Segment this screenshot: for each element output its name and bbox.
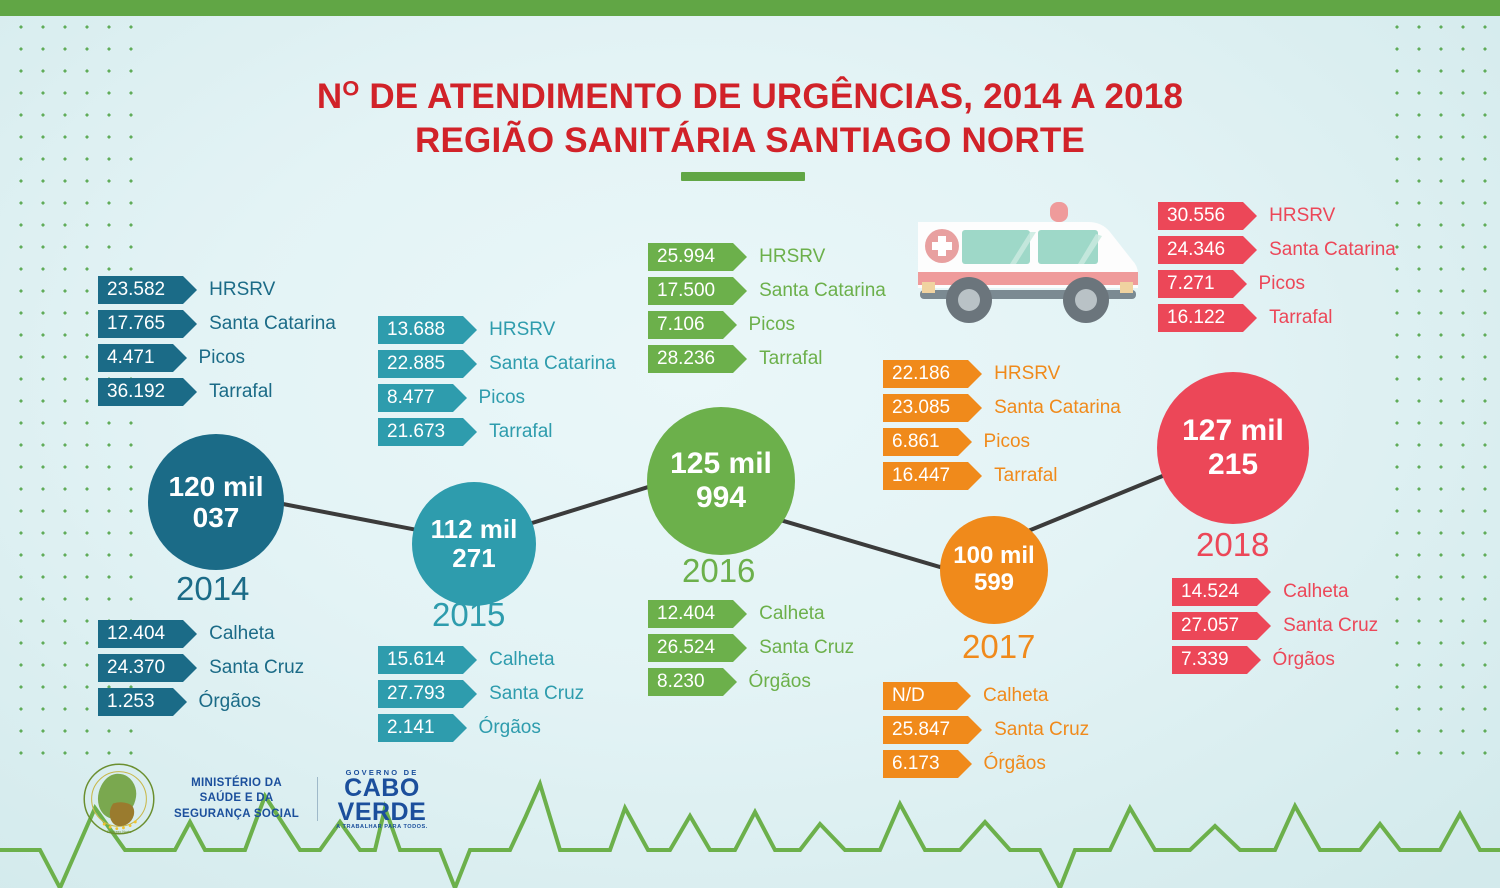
facility-label: HRSRV [489,319,555,341]
breakdown-row[interactable]: 6.173Órgãos [883,750,1089,778]
value-badge: 36.192 [98,378,183,406]
total-bubble-2016[interactable]: 125 mil994 [647,407,795,555]
breakdown-bottom-2014: 12.404Calheta 24.370Santa Cruz 1.253Órgã… [98,620,304,722]
value-badge: 7.106 [648,311,723,339]
ministry-line-1: MINISTÉRIO DA [174,776,299,792]
infographic-canvas: No DE ATENDIMENTO DE URGÊNCIAS, 2014 A 2… [0,0,1500,888]
breakdown-row[interactable]: 7.271Picos [1158,270,1396,298]
facility-label: Tarrafal [489,421,552,443]
ministry-logo-text: MINISTÉRIO DA SAÚDE E DA SEGURANÇA SOCIA… [174,776,299,823]
total-line-2: 994 [670,481,772,515]
facility-label: Picos [199,347,245,369]
breakdown-row[interactable]: 8.230Órgãos [648,668,854,696]
governo-cabo-verde-logo: GOVERNO DE CABO VERDE A TRABALHAR PARA T… [336,768,428,831]
value-badge: 27.057 [1172,612,1257,640]
title-rest: DE ATENDIMENTO DE URGÊNCIAS, 2014 A 2018 [359,77,1183,116]
value-badge: 4.471 [98,344,173,372]
value-badge: 13.688 [378,316,463,344]
breakdown-row[interactable]: 2.141Órgãos [378,714,584,742]
breakdown-row[interactable]: 15.614Calheta [378,646,584,674]
facility-label: Santa Cruz [759,637,854,659]
value-badge: 25.994 [648,243,733,271]
value-badge: 22.885 [378,350,463,378]
value-badge: 7.271 [1158,270,1233,298]
value-badge: 16.122 [1158,304,1243,332]
ministry-line-2: SAÚDE E DA [174,791,299,807]
value-badge: 14.524 [1172,578,1257,606]
facility-label: Santa Catarina [209,313,336,335]
breakdown-row[interactable]: 25.994HRSRV [648,243,886,271]
breakdown-row[interactable]: 17.765Santa Catarina [98,310,336,338]
facility-label: Calheta [759,603,825,625]
facility-label: Santa Cruz [994,719,1089,741]
breakdown-row[interactable]: 36.192Tarrafal [98,378,336,406]
value-badge: 25.847 [883,716,968,744]
facility-label: Santa Cruz [209,657,304,679]
ambulance-illustration [890,196,1150,336]
breakdown-row[interactable]: 23.085Santa Catarina [883,394,1121,422]
breakdown-row[interactable]: 22.885Santa Catarina [378,350,616,378]
value-badge: 26.524 [648,634,733,662]
total-line-1: 112 mil [431,515,518,544]
breakdown-top-2018: 30.556HRSRV 24.346Santa Catarina 7.271Pi… [1158,202,1396,338]
breakdown-row[interactable]: 27.057Santa Cruz [1172,612,1378,640]
breakdown-row[interactable]: 24.346Santa Catarina [1158,236,1396,264]
facility-label: Picos [1259,273,1305,295]
value-badge: 12.404 [98,620,183,648]
value-badge: 24.346 [1158,236,1243,264]
facility-label: HRSRV [759,246,825,268]
value-badge: 12.404 [648,600,733,628]
year-label-2016: 2016 [682,552,755,590]
facility-label: Santa Catarina [994,397,1121,419]
breakdown-row[interactable]: 13.688HRSRV [378,316,616,344]
footer-divider [317,777,318,821]
breakdown-row[interactable]: 4.471Picos [98,344,336,372]
value-badge: 24.370 [98,654,183,682]
total-line-2: 215 [1182,448,1284,482]
title-ordinal: o [342,75,359,100]
title-underline-rule [681,172,805,181]
breakdown-bottom-2015: 15.614Calheta 27.793Santa Cruz 2.141Órgã… [378,646,584,748]
ministry-line-3: SEGURANÇA SOCIAL [174,807,299,823]
total-line-1: 127 mil [1182,414,1284,448]
breakdown-top-2016: 25.994HRSRV 17.500Santa Catarina 7.106Pi… [648,243,886,379]
breakdown-row[interactable]: N/DCalheta [883,682,1089,710]
facility-label: Picos [984,431,1030,453]
facility-label: Órgãos [749,671,811,693]
value-badge: 7.339 [1172,646,1247,674]
breakdown-row[interactable]: 6.861Picos [883,428,1121,456]
title-line-2: REGIÃO SANITÁRIA SANTIAGO NORTE [0,119,1500,164]
value-badge: 6.861 [883,428,958,456]
title-line-1: No DE ATENDIMENTO DE URGÊNCIAS, 2014 A 2… [317,77,1183,116]
breakdown-row[interactable]: 30.556HRSRV [1158,202,1396,230]
breakdown-top-2014: 23.582HRSRV 17.765Santa Catarina 4.471Pi… [98,276,336,412]
svg-text:Santiago Norte: Santiago Norte [107,830,132,834]
facility-label: Tarrafal [994,465,1057,487]
breakdown-row[interactable]: 16.447Tarrafal [883,462,1121,490]
facility-label: Órgãos [199,691,261,713]
total-line-1: 100 mil [953,543,1034,570]
facility-label: HRSRV [994,363,1060,385]
breakdown-row[interactable]: 8.477Picos [378,384,616,412]
breakdown-row[interactable]: 21.673Tarrafal [378,418,616,446]
value-badge: 27.793 [378,680,463,708]
value-badge: 23.582 [98,276,183,304]
title-n: N [317,77,342,116]
top-accent-bar [0,0,1500,16]
breakdown-row[interactable]: 1.253Órgãos [98,688,304,716]
facility-label: HRSRV [1269,205,1335,227]
facility-label: HRSRV [209,279,275,301]
total-line-2: 599 [953,570,1034,597]
facility-label: Picos [749,314,795,336]
breakdown-row[interactable]: 24.370Santa Cruz [98,654,304,682]
facility-label: Picos [479,387,525,409]
facility-label: Calheta [209,623,275,645]
facility-label: Órgãos [1273,649,1335,671]
gov-main-line-2: VERDE [336,801,428,825]
gov-main-line-1: CABO [336,777,428,801]
year-label-2018: 2018 [1196,526,1269,564]
year-label-2015: 2015 [432,596,505,634]
breakdown-row[interactable]: 26.524Santa Cruz [648,634,854,662]
facility-label: Calheta [1283,581,1349,603]
breakdown-row[interactable]: 14.524Calheta [1172,578,1378,606]
breakdown-bottom-2017: N/DCalheta 25.847Santa Cruz 6.173Órgãos [883,682,1089,784]
facility-label: Tarrafal [1269,307,1332,329]
facility-label: Santa Catarina [1269,239,1396,261]
value-badge: 8.477 [378,384,453,412]
total-bubble-2014[interactable]: 120 mil037 [148,434,284,570]
breakdown-row[interactable]: 25.847Santa Cruz [883,716,1089,744]
value-badge: 30.556 [1158,202,1243,230]
facility-label: Santa Cruz [489,683,584,705]
facility-label: Santa Catarina [489,353,616,375]
value-badge: 17.500 [648,277,733,305]
facility-label: Santa Cruz [1283,615,1378,637]
page-title: No DE ATENDIMENTO DE URGÊNCIAS, 2014 A 2… [0,74,1500,164]
breakdown-row[interactable]: 7.106Picos [648,311,886,339]
value-badge: 2.141 [378,714,453,742]
breakdown-row[interactable]: 12.404Calheta [98,620,304,648]
total-bubble-2018[interactable]: 127 mil215 [1157,372,1309,524]
facility-label: Calheta [983,685,1049,707]
value-badge: 28.236 [648,345,733,373]
year-label-2014: 2014 [176,570,249,608]
value-badge: 1.253 [98,688,173,716]
total-line-1: 125 mil [670,447,772,481]
value-badge: 15.614 [378,646,463,674]
total-bubble-2015[interactable]: 112 mil271 [412,482,536,606]
facility-label: Órgãos [479,717,541,739]
value-badge: 8.230 [648,668,723,696]
facility-label: Tarrafal [209,381,272,403]
value-badge: 17.765 [98,310,183,338]
value-badge: 6.173 [883,750,958,778]
value-badge: 22.186 [883,360,968,388]
total-bubble-2017[interactable]: 100 mil599 [940,516,1048,624]
total-line-2: 271 [431,544,518,573]
total-line-1: 120 mil [169,471,264,502]
value-badge: N/D [883,682,957,710]
breakdown-row[interactable]: 28.236Tarrafal [648,345,886,373]
breakdown-bottom-2018: 14.524Calheta 27.057Santa Cruz 7.339Órgã… [1172,578,1378,680]
value-badge: 23.085 [883,394,968,422]
facility-label: Tarrafal [759,348,822,370]
breakdown-row[interactable]: 22.186HRSRV [883,360,1121,388]
facility-label: Calheta [489,649,555,671]
footer-logos: Santiago Norte MINISTÉRIO DA SAÚDE E DA … [82,762,428,836]
breakdown-bottom-2016: 12.404Calheta 26.524Santa Cruz 8.230Órgã… [648,600,854,702]
breakdown-row[interactable]: 7.339Órgãos [1172,646,1378,674]
breakdown-row[interactable]: 17.500Santa Catarina [648,277,886,305]
year-label-2017: 2017 [962,628,1035,666]
gov-tagline: A TRABALHAR PARA TODOS. [336,824,428,830]
breakdown-top-2017: 22.186HRSRV 23.085Santa Catarina 6.861Pi… [883,360,1121,496]
facility-label: Órgãos [984,753,1046,775]
breakdown-row[interactable]: 12.404Calheta [648,600,854,628]
breakdown-row[interactable]: 23.582HRSRV [98,276,336,304]
breakdown-top-2015: 13.688HRSRV 22.885Santa Catarina 8.477Pi… [378,316,616,452]
breakdown-row[interactable]: 27.793Santa Cruz [378,680,584,708]
breakdown-row[interactable]: 16.122Tarrafal [1158,304,1396,332]
value-badge: 21.673 [378,418,463,446]
facility-label: Santa Catarina [759,280,886,302]
total-line-2: 037 [169,502,264,533]
regiao-sanitaria-seal-logo: Santiago Norte [82,762,156,836]
value-badge: 16.447 [883,462,968,490]
